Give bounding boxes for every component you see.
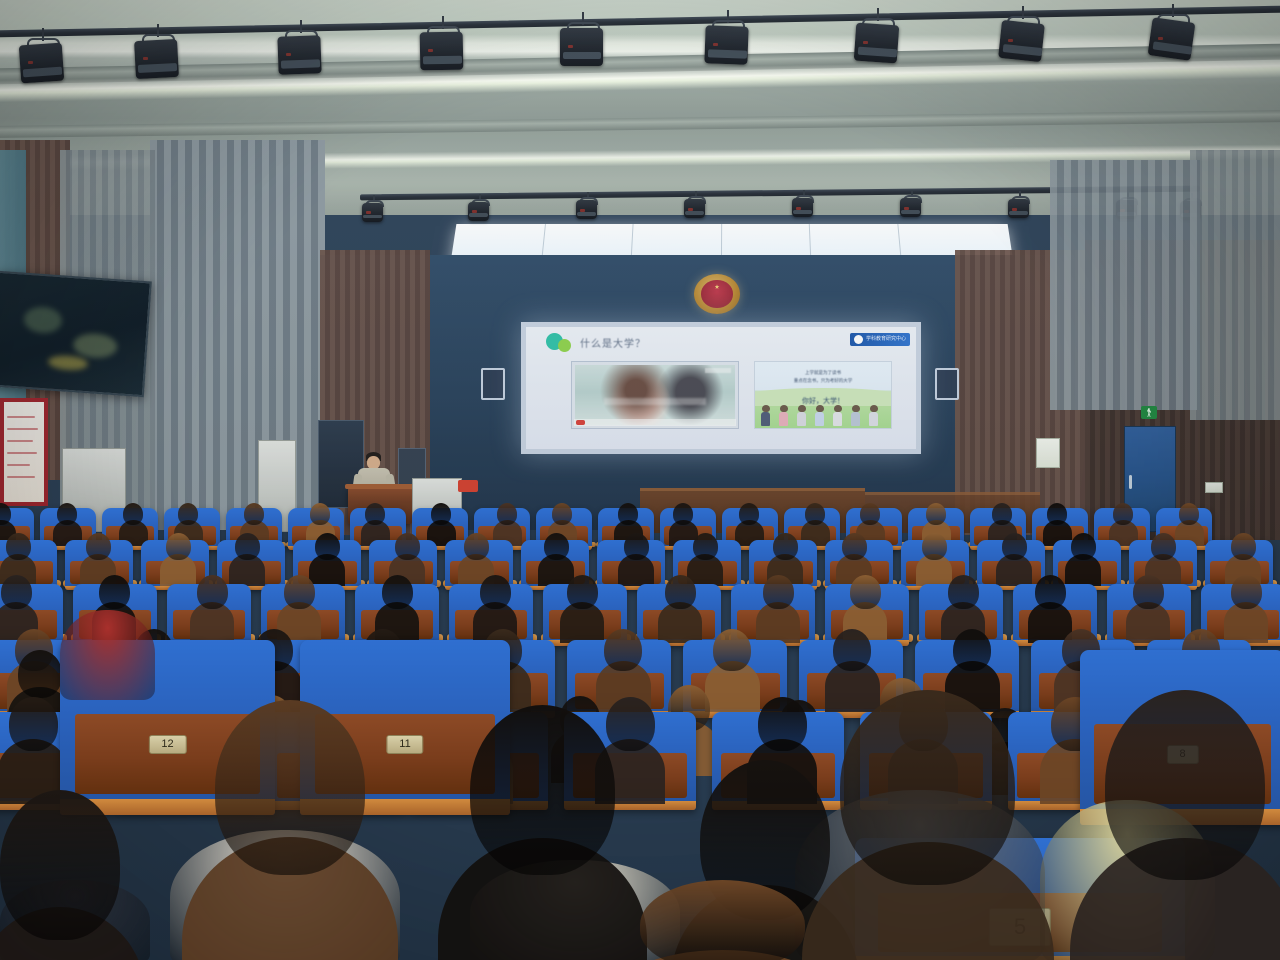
audience-member [1002, 533, 1027, 560]
audience-member [6, 533, 31, 560]
audience-member [604, 629, 642, 671]
audience-member [673, 503, 693, 525]
audience-member [552, 503, 572, 525]
audience-member [395, 533, 420, 560]
audience-member [840, 690, 1015, 885]
audience-member [1133, 575, 1164, 609]
audience-member [1035, 575, 1066, 609]
audience-member [480, 575, 511, 609]
audience-member [640, 880, 805, 960]
audience-member [497, 503, 517, 525]
audience-member [833, 629, 871, 671]
audience-member [1113, 503, 1133, 525]
audience-member [244, 503, 264, 525]
audience-member [431, 503, 451, 525]
audience-member [178, 503, 198, 525]
audience-member [567, 575, 598, 609]
audience-member [926, 503, 946, 525]
audience-member [739, 503, 759, 525]
audience-member [842, 533, 867, 560]
audience-member [464, 533, 489, 560]
audience-member [1231, 533, 1256, 560]
audience-member [315, 533, 340, 560]
audience-member [948, 575, 979, 609]
audience-member [544, 533, 569, 560]
audience-member [1151, 533, 1176, 560]
audience-member [758, 697, 807, 751]
audience-member [235, 533, 260, 560]
audience-member [805, 503, 825, 525]
audience-member [922, 533, 947, 560]
audience-member [693, 533, 718, 560]
audience-member [382, 575, 413, 609]
audience-member [773, 533, 798, 560]
audience-member [850, 575, 881, 609]
seat-number: 11 [386, 735, 423, 754]
audience-member [365, 503, 385, 525]
audience-member [57, 503, 77, 525]
audience-member [0, 503, 11, 525]
audience-member [9, 697, 58, 751]
audience-member [992, 503, 1012, 525]
audience-member [624, 533, 649, 560]
lecture-hall-photo: 什么是大学？ 学科教育研究中心 上学就是为了读书 重点在念书，只为考好的大学 你… [0, 0, 1280, 960]
audience-member [1047, 503, 1067, 525]
audience-member [197, 575, 228, 609]
audience-member [310, 503, 330, 525]
audience-member [1105, 690, 1265, 880]
audience-member [618, 503, 638, 525]
audience-member [1231, 575, 1262, 609]
audience-member [713, 629, 751, 671]
audience-member [123, 503, 143, 525]
audience-member [18, 650, 62, 698]
audience-member [284, 575, 315, 609]
audience-member [0, 790, 120, 940]
audience-member [99, 575, 130, 609]
audience-member [470, 705, 615, 875]
audience-member [1, 575, 32, 609]
audience-member [215, 700, 365, 875]
red-jacket [60, 610, 155, 700]
audience-member [860, 503, 880, 525]
audience-member [86, 533, 111, 560]
numbered-seat-layer: 121185 [0, 0, 1280, 960]
seat-number: 12 [148, 735, 186, 754]
audience-member [953, 629, 991, 671]
audience-member [1071, 533, 1096, 560]
audience-member [763, 575, 794, 609]
audience-member [166, 533, 191, 560]
audience-member [1179, 503, 1199, 525]
audience-member [665, 575, 696, 609]
